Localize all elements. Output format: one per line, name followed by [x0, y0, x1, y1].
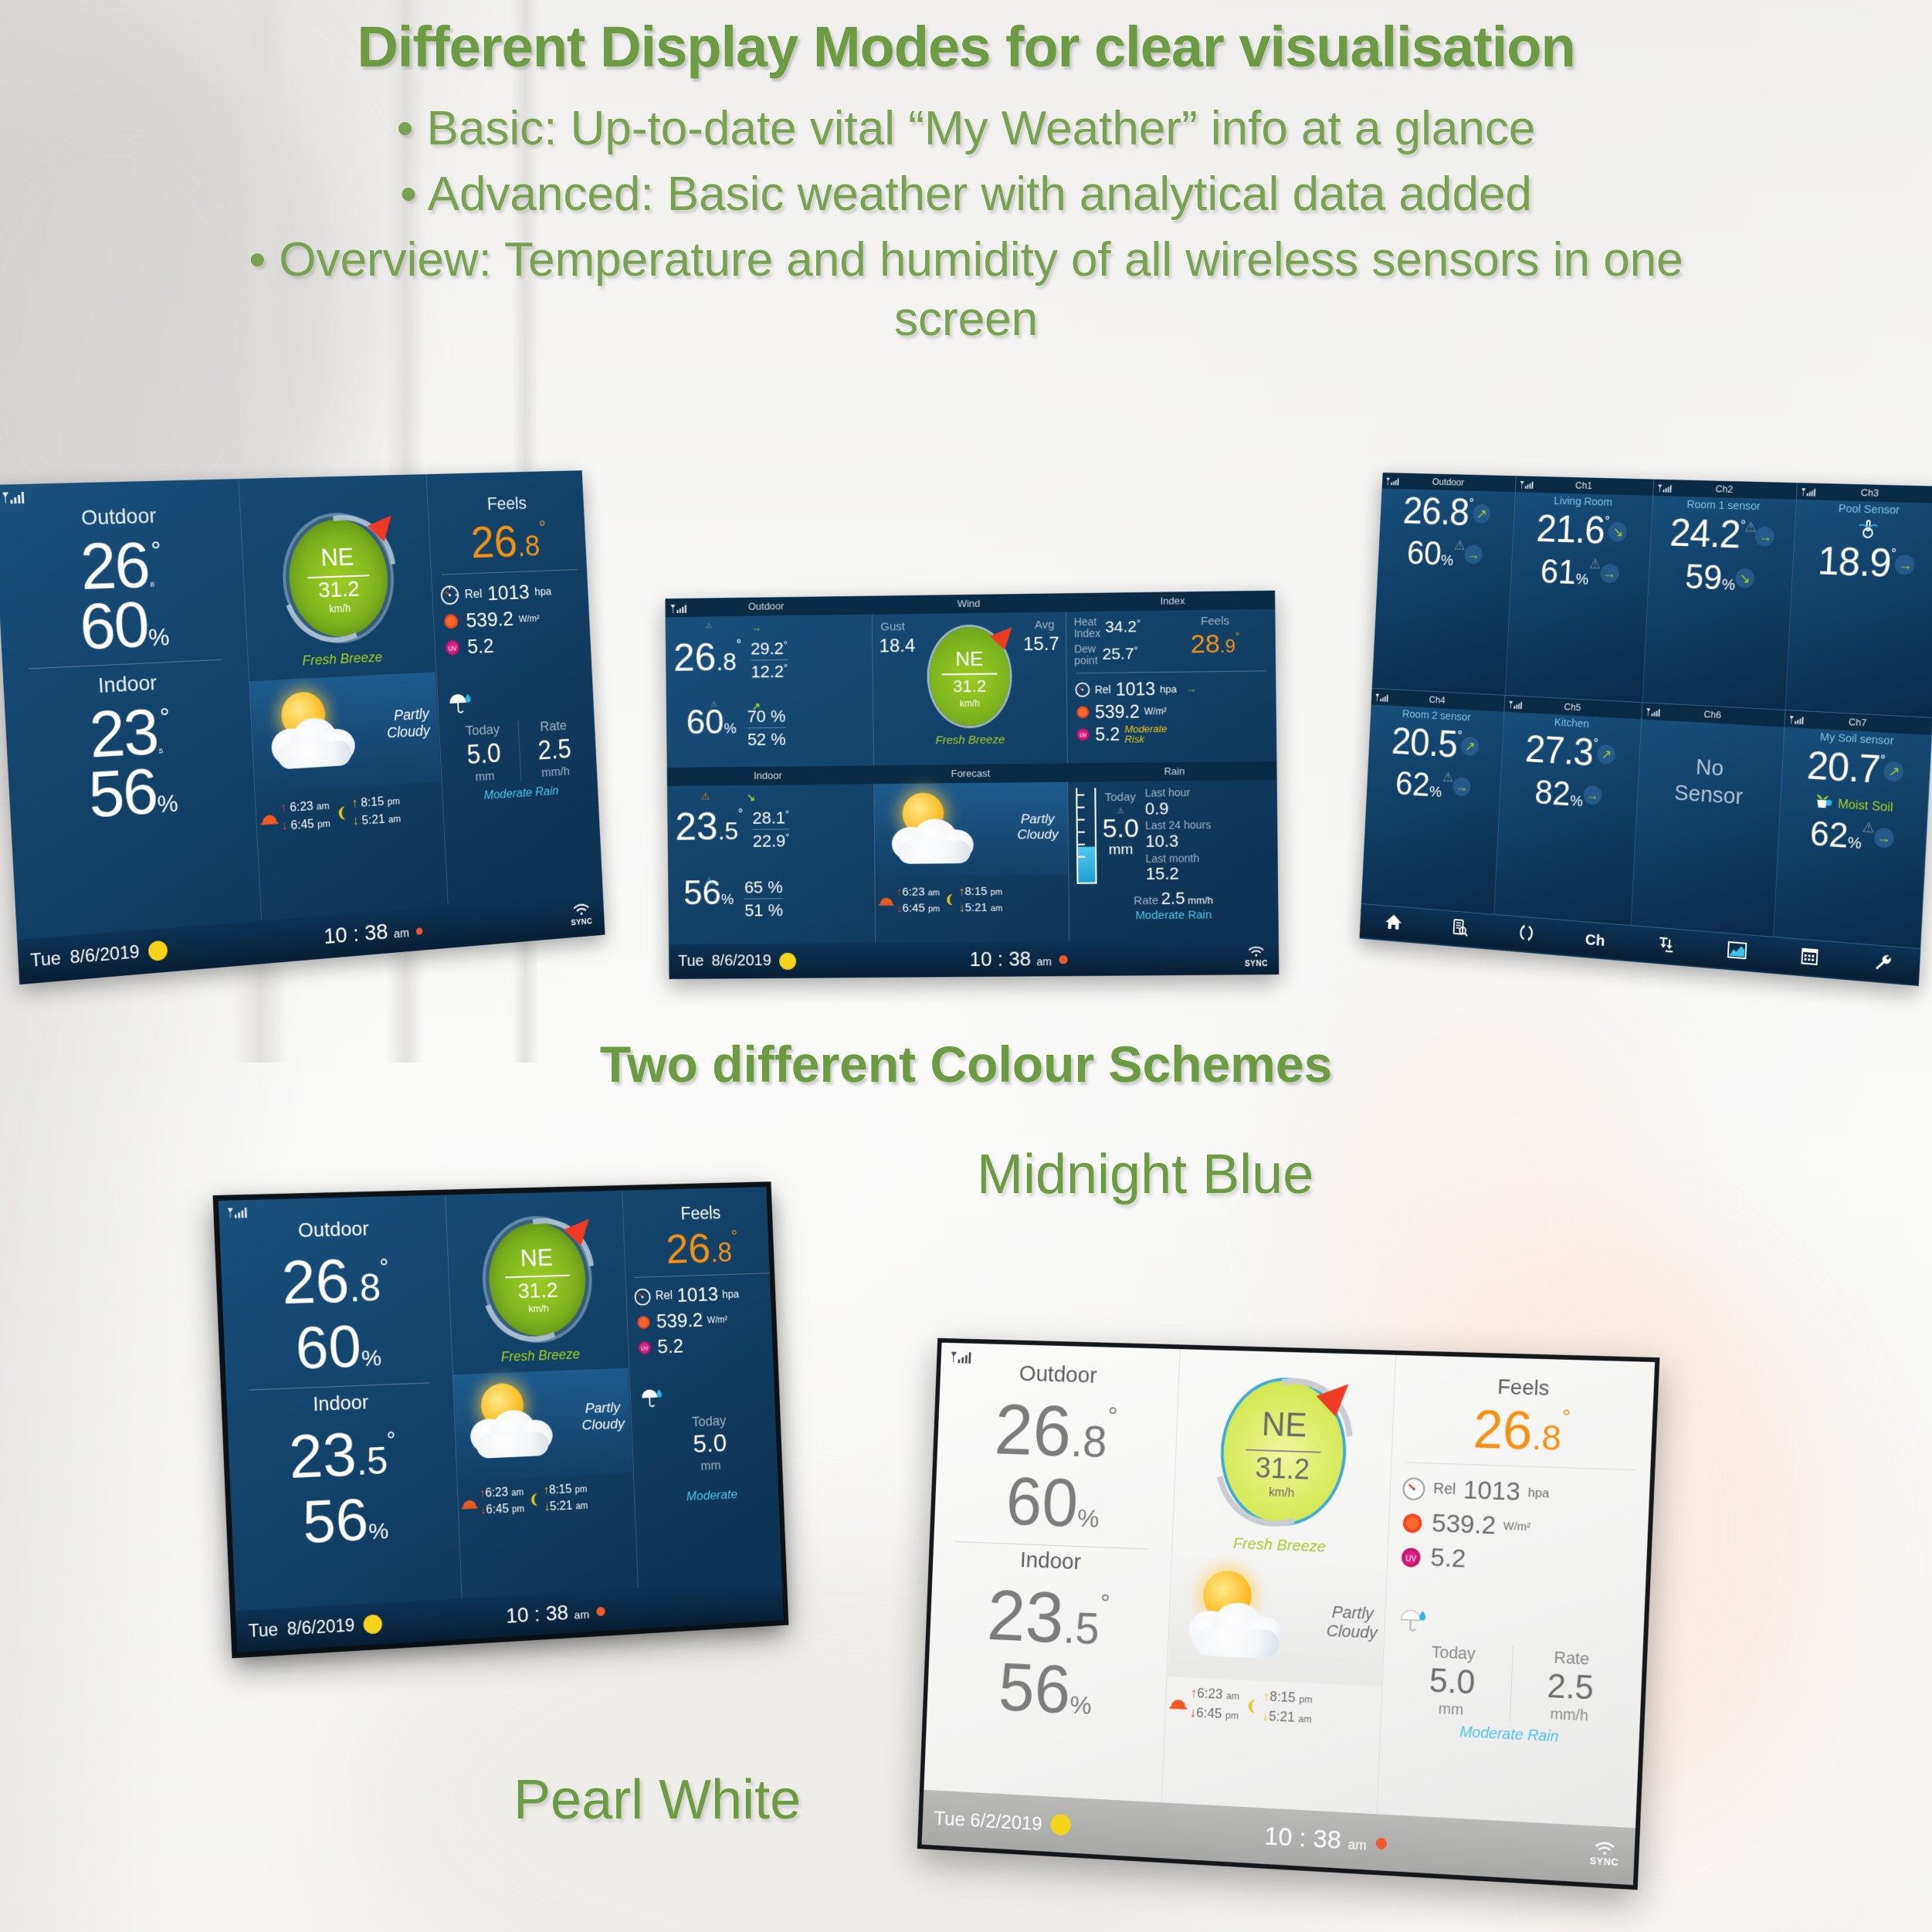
adv-outdoor-hum-unit: % — [724, 720, 737, 736]
indoor-hum-alarm-icon: ⚠ — [705, 875, 714, 887]
indoor-temp-dec: .5 — [158, 747, 162, 756]
wind-dial: NE 31.2 km/h — [286, 518, 390, 639]
hum-alarm-icon: ⚠ — [710, 700, 717, 709]
sensor-humidity: 62%⚠→ — [1778, 810, 1927, 861]
pw-pressure: 1013 — [1463, 1476, 1520, 1507]
overview-cell-ch1[interactable]: Ch1Living Room21.6°↘61%⚠→ — [1505, 476, 1654, 703]
overview-sensor-grid: Outdoor26.8°↗60%⚠→ Ch1Living Room21.6°↘6… — [1361, 473, 1932, 949]
sensor-temperature: 20.7°↗ — [1781, 741, 1930, 796]
pw-pressure-row: Rel 1013 hpa — [1402, 1473, 1639, 1511]
mn-sunrise: 6:23 — [485, 1486, 508, 1500]
temp-trend-icon: → — [751, 622, 761, 634]
sunrise-ampm: am — [317, 800, 330, 812]
sensor-humidity: 62%⚠→ — [1367, 761, 1501, 809]
adv-indoor-temp-dec: .5 — [717, 817, 738, 845]
mn-pressure-unit: hpa — [722, 1287, 739, 1300]
wind-speed: 31.2 — [930, 676, 1010, 697]
sensor-temperature: 21.6°↘ — [1513, 506, 1652, 554]
home-icon[interactable] — [1385, 913, 1403, 934]
forecast-text-1: Partly — [386, 706, 430, 725]
outdoor-hum-value: 60 — [78, 588, 150, 663]
advanced-outdoor-cell: ⚠ → 26.8° 29.2° 12.2° ⚠ ↗ 60% — [666, 615, 874, 768]
pw-moonset-ampm: am — [1298, 1713, 1312, 1725]
svg-text:UV: UV — [448, 645, 457, 652]
last-hour-value: 0.9 — [1145, 798, 1269, 819]
pw-wind-dir: NE — [1224, 1405, 1344, 1446]
moon-icon — [943, 893, 957, 907]
overview-cell-ch5[interactable]: Ch5Kitchen27.3°↗82%→ — [1494, 696, 1643, 926]
feels-dec: .8 — [517, 530, 541, 562]
wind-dial: NE 31.2 km/h — [929, 626, 1010, 726]
pw-moonrise-ampm: pm — [1299, 1693, 1313, 1706]
adv-indoor-hum-min: 51 % — [744, 900, 783, 920]
sunrise-time: 6:23 — [290, 798, 314, 814]
adv-outdoor-temp: 26 — [673, 636, 717, 679]
mn-rain-status: Moderate — [642, 1485, 781, 1507]
sunrise-icon — [260, 810, 278, 826]
pw-out-hum-unit: % — [1076, 1504, 1100, 1534]
overview-cell-ch2[interactable]: Ch2Room 1 sensor24.2°⚠→59%↘ — [1642, 480, 1797, 710]
bullet-advanced: • Advanced: Basic weather with analytica… — [0, 165, 1932, 225]
advanced-rain-cell: Today ⚠ 5.0 mm Last hour 0.9 Last 24 hou… — [1068, 780, 1279, 941]
avg-label: Avg — [1035, 619, 1055, 632]
pearl-right-column: Feels 26.8° Rel 1013 hpa 539.2 W/m² — [1378, 1355, 1654, 1835]
adv-sunset-ampm: pm — [928, 904, 940, 913]
adv-solar-unit: W/m² — [1144, 706, 1167, 717]
pw-solar-unit: W/m² — [1503, 1520, 1531, 1534]
channel-label: Ch2 — [1653, 480, 1796, 500]
adv-sync-label: SYNC — [1245, 960, 1268, 968]
pw-out-deg: ° — [1107, 1402, 1118, 1430]
max-min-icon[interactable] — [1656, 934, 1675, 957]
pw-out-temp: 26 — [993, 1389, 1073, 1471]
sunset-time: 6:45 — [290, 816, 314, 832]
trend-arrow-icon: → — [1755, 527, 1775, 547]
pw-weekday-date: Tue 6/2/2019 — [934, 1806, 1042, 1835]
trend-arrow-icon: → — [1464, 544, 1483, 564]
pw-forecast-2: Cloudy — [1326, 1621, 1378, 1642]
pw-wind-speed: 31.2 — [1222, 1452, 1343, 1488]
sunset-ampm: pm — [317, 818, 330, 830]
svg-text:UV: UV — [641, 1344, 649, 1351]
wind-speed: 31.2 — [289, 575, 388, 605]
status-ampm: am — [394, 927, 410, 941]
gust-label: Gust — [880, 620, 905, 633]
wind-dial: NE 31.2 km/h — [1218, 1376, 1349, 1528]
pw-feels-label: Feels — [1405, 1355, 1643, 1403]
adv-moonset-time: 5:21 — [965, 901, 988, 914]
adv-forecast-text-1: Partly — [1017, 812, 1058, 827]
advanced-wind-header: Wind — [867, 593, 1070, 614]
uv-risk-2: Risk — [1124, 734, 1144, 745]
mn-feels-deg: ° — [731, 1227, 738, 1246]
adv-pressure-value: 1013 — [1116, 679, 1156, 700]
status-weekday: Tue — [30, 948, 62, 972]
advanced-row1-body: ⚠ → 26.8° 29.2° 12.2° ⚠ ↗ 60% — [666, 609, 1277, 768]
wrench-settings-icon[interactable] — [1873, 952, 1893, 975]
mn-ampm: am — [574, 1608, 589, 1622]
adv-pressure-prefix: Rel — [1095, 683, 1111, 696]
display-advanced-mode: Outdoor Wind Index ⚠ → 26.8° 29.2° 12.2° — [666, 595, 1276, 977]
forecast-text-2: Cloudy — [387, 723, 431, 742]
adv-rain-today-label: Today — [1102, 791, 1139, 805]
signal-bars-icon — [1657, 483, 1673, 500]
pw-in-dec: .5 — [1063, 1602, 1100, 1654]
mn-wind-dir: NE — [488, 1242, 585, 1273]
adv-rate-unit: mm/h — [1188, 894, 1213, 906]
pressure-row: Rel 1013 hpa — [439, 578, 581, 607]
feels-temperature: 26.8° — [436, 514, 580, 570]
advanced-index-header: Index — [1070, 591, 1275, 612]
no-sensor-text: NoSensor — [1638, 751, 1782, 813]
adv-moonrise-time: 8:15 — [964, 885, 987, 898]
trend-arrow-icon: → — [1895, 554, 1916, 575]
indoor-temp-trend-icon: ↘ — [747, 791, 755, 804]
sunrise-icon — [1170, 1694, 1188, 1710]
pearl-screen: Outdoor 26.8° 60% Indoor 23.5° 56% N — [922, 1343, 1656, 1885]
mn-date: 8/6/2019 — [286, 1615, 355, 1639]
overview-screen: Outdoor26.8°↗60%⚠→ Ch1Living Room21.6°↘6… — [1360, 473, 1932, 986]
sun-behind-cloud-icon — [1183, 1566, 1297, 1673]
bullet-overview: • Overview: Temperature and humidity of … — [232, 231, 1700, 350]
last-month-value: 15.2 — [1146, 864, 1270, 884]
mn-out-hum: 60 — [294, 1312, 362, 1381]
wind-description: Fresh Breeze — [248, 647, 435, 673]
adv-forecast-text-2: Cloudy — [1017, 826, 1058, 842]
mn-moonrise: 8:15 — [549, 1483, 572, 1497]
moonrise-ampm: pm — [387, 795, 400, 807]
adv-uv-row: UV 5.2 Moderate Risk — [1075, 722, 1269, 745]
index-feels-label: Feels — [1163, 614, 1268, 629]
outdoor-hum-unit: % — [147, 623, 170, 651]
mn-in-dec: .5 — [355, 1439, 388, 1483]
adv-solar-row: 539.2 W/m² — [1075, 700, 1269, 723]
mn-sunset: 6:45 — [486, 1503, 509, 1517]
moon-icon — [1243, 1697, 1260, 1714]
last-24-label: Last 24 hours — [1145, 819, 1269, 832]
channel-label: Ch3 — [1796, 483, 1932, 503]
moon-icon — [334, 805, 350, 822]
dew-point-value: 25.7 — [1102, 645, 1134, 663]
pw-forecast-1: Partly — [1327, 1602, 1378, 1624]
trend-arrow-icon: → — [1583, 785, 1602, 805]
calendar-icon[interactable] — [1800, 947, 1818, 969]
advanced-screen: Outdoor Wind Index ⚠ → 26.8° 29.2° 12.2° — [665, 591, 1279, 979]
adv-sync-indicator: SYNC — [1245, 946, 1279, 968]
overview-cell-ch6[interactable]: Ch6NoSensor — [1631, 703, 1785, 937]
advanced-outdoor-header: Outdoor — [748, 600, 785, 612]
adv-pressure-row: Rel 1013 hpa → — [1074, 677, 1268, 700]
advanced-rain-header: Rain — [1073, 761, 1277, 782]
sensor-humidity: 59%↘ — [1648, 554, 1792, 600]
mn-forecast-panel: Partly Cloudy — [453, 1368, 632, 1480]
forecast-panel: Partly Cloudy — [249, 672, 441, 793]
pw-moonset: 5:21 — [1269, 1709, 1295, 1725]
sensor-humidity: 61%⚠→ — [1510, 550, 1649, 595]
adv-indoor-deg: ° — [738, 807, 744, 821]
wind-direction: NE — [929, 646, 1009, 671]
indoor-temp-alarm-icon: ⚠ — [701, 791, 710, 803]
signal-bars-icon — [1507, 699, 1524, 716]
channel-label: Ch1 — [1515, 476, 1653, 496]
pw-sunset: 6:45 — [1196, 1705, 1222, 1721]
adv-indoor-temp: 23 — [675, 805, 718, 848]
adv-rain-today-value: 5.0 — [1102, 815, 1139, 842]
pw-sync-indicator: SYNC — [1589, 1841, 1635, 1870]
mn-solar-row: 539.2 W/m² — [635, 1306, 775, 1334]
avg-value: 15.7 — [1023, 634, 1059, 656]
adv-moonrise-ampm: pm — [991, 888, 1002, 897]
adv-rate-value: 2.5 — [1161, 888, 1185, 907]
mn-wind-desc: Fresh Breeze — [452, 1344, 629, 1367]
basic-left-column: Outdoor 26.8° 60% Indoor 23.5° 56% — [0, 479, 260, 938]
barometer-icon — [1402, 1476, 1426, 1501]
outdoor-label: Outdoor — [0, 479, 240, 533]
mn-in-temp: 23 — [287, 1420, 358, 1491]
solar-radiation-icon — [635, 1313, 652, 1331]
pressure-unit: hpa — [534, 585, 551, 598]
trend-arrow-icon: ↘ — [1735, 568, 1755, 588]
alarm-bell-icon: ● — [415, 920, 425, 940]
sensor-humidity: 60%⚠→ — [1378, 532, 1512, 576]
full-moon-icon — [1050, 1814, 1071, 1835]
mn-in-hum-unit: % — [368, 1518, 389, 1544]
trend-arrow-icon: → — [1452, 777, 1471, 797]
pw-time: 10 : 38 — [1264, 1822, 1342, 1855]
uv-index-icon: UV — [442, 637, 463, 659]
solar-value: 539.2 — [466, 607, 514, 632]
pw-sunset-ampm: pm — [1225, 1710, 1239, 1721]
trend-arrow-icon: ↗ — [1460, 737, 1479, 757]
alarm-bell-icon: ● — [1373, 1827, 1389, 1856]
indoor-hum-value: 56 — [86, 754, 158, 832]
pw-ampm: am — [1347, 1836, 1367, 1852]
barometer-icon — [633, 1287, 651, 1306]
pw-uv: 5.2 — [1430, 1543, 1466, 1574]
soil-status-text: Moist Soil — [1838, 796, 1894, 814]
rain-readouts: Today 5.0 mm Rate 2.5 mm/h — [447, 717, 591, 786]
sync-indicator: SYNC — [570, 902, 605, 929]
mn-feels-dec: .8 — [710, 1237, 732, 1268]
pw-sunrise-ampm: am — [1226, 1690, 1240, 1701]
sunrise-icon — [879, 894, 894, 907]
pw-in-deg: ° — [1100, 1589, 1110, 1618]
mn-solar: 539.2 — [656, 1308, 703, 1333]
outdoor-humidity: 60% — [0, 590, 246, 663]
moonrise-time: 8:15 — [361, 794, 385, 809]
trend-arrow-icon: ↗ — [1883, 761, 1904, 781]
pw-outdoor-label: Outdoor — [940, 1343, 1178, 1391]
heat-index-value: 34.2 — [1105, 618, 1137, 636]
status-date: 8/6/2019 — [69, 941, 140, 968]
svg-text:UV: UV — [1405, 1554, 1417, 1564]
chart-icon[interactable] — [1727, 941, 1747, 962]
trend-arrow-icon: → — [1873, 827, 1894, 849]
basic-screen: Outdoor 26.8° 60% Indoor 23.5° 56% — [0, 470, 605, 985]
adv-outdoor-temp-max: 29.2 — [751, 639, 784, 658]
signal-bars-icon — [1646, 706, 1662, 723]
pw-forecast-panel: Partly Cloudy — [1168, 1557, 1386, 1686]
alarm-warning-icon: ⚠ — [1442, 770, 1454, 786]
pw-wind-desc: Fresh Breeze — [1173, 1533, 1387, 1559]
gust-value: 18.4 — [879, 636, 915, 658]
adv-rain-today-unit: mm — [1103, 842, 1140, 859]
adv-indoor-temp-max: 28.1 — [752, 808, 785, 827]
wind-description: Fresh Breeze — [874, 733, 1066, 748]
sensor-temperature: 26.8°↗ — [1380, 489, 1515, 537]
advanced-wind-cell: Gust 18.4 Avg 15.7 NE 31.2 km/h Fresh Br… — [873, 612, 1066, 765]
solar-row: 539.2 W/m² — [441, 605, 583, 634]
full-moon-icon — [779, 952, 796, 969]
mn-outdoor-label: Outdoor — [219, 1195, 446, 1245]
headline-block: Different Display Modes for clear visual… — [0, 0, 1932, 350]
page-title: Different Display Modes for clear visual… — [0, 0, 1932, 80]
dew-point-deg: ° — [1134, 645, 1137, 656]
pw-sync-label: SYNC — [1589, 1855, 1618, 1868]
index-feels-deg: ° — [1235, 630, 1240, 643]
pearl-left-column: Outdoor 26.8° 60% Indoor 23.5° 56% — [924, 1343, 1178, 1810]
overview-cell-ch3[interactable]: Ch3Pool Sensor 18.9°→ — [1785, 483, 1932, 718]
index-feels-value: 28 — [1191, 629, 1220, 659]
last-hour-label: Last hour — [1144, 786, 1269, 799]
mn-sunrise-ampm: am — [511, 1486, 524, 1497]
outdoor-temp-dec: .8 — [150, 581, 154, 589]
uv-index-icon: UV — [1075, 727, 1090, 743]
adv-sunrise-time: 6:23 — [902, 886, 924, 899]
uv-value: 5.2 — [467, 634, 495, 659]
display-midnight-blue: Outdoor 26.8° 60% Indoor 23.5° 56% — [222, 1195, 809, 1659]
rain-status: Moderate Rain — [450, 781, 591, 805]
label-pearl-white: Pearl White — [514, 1768, 801, 1832]
display-overview-mode: Outdoor26.8°↗60%⚠→ Ch1Living Room21.6°↘6… — [1322, 486, 1932, 988]
pw-in-temp: 23 — [986, 1575, 1066, 1658]
rain-today-value: 5.0 — [448, 737, 520, 771]
adv-status-ampm: am — [1036, 955, 1052, 968]
document-search-icon[interactable] — [1452, 918, 1469, 940]
pw-feels-deg: ° — [1561, 1405, 1571, 1429]
wifi-icon — [572, 903, 590, 916]
plant-pot-icon — [1813, 792, 1832, 814]
advanced-forecast-header: Forecast — [869, 764, 1072, 785]
sun-behind-cloud-icon — [889, 789, 982, 873]
label-midnight-blue: Midnight Blue — [977, 1143, 1313, 1206]
adv-rate-label: Rate — [1134, 894, 1158, 907]
mn-out-dec: .8 — [348, 1266, 381, 1310]
trend-arrow-icon: ↗ — [1597, 744, 1616, 764]
pearl-middle-column: NE 31.2 km/h Fresh Breeze Partly Cloudy — [1162, 1349, 1395, 1822]
trend-arrow-icon: ↘ — [1608, 522, 1627, 542]
signal-bars-icon — [1385, 476, 1401, 492]
uv-index-icon: UV — [1398, 1544, 1423, 1570]
adv-indoor-hum: 56 — [683, 874, 721, 912]
adv-outdoor-deg: ° — [736, 638, 741, 652]
adv-status-date: 8/6/2019 — [711, 952, 771, 971]
barometer-icon — [1074, 682, 1090, 697]
indoor-hum-trend-icon: → — [747, 876, 758, 888]
wind-speed-unit: km/h — [930, 697, 1010, 709]
indoor-humidity: 56% — [8, 754, 255, 832]
advanced-indoor-header: Indoor — [667, 765, 869, 786]
rain-gauge-icon — [1076, 788, 1096, 883]
adv-status-time: 10 : 38 — [970, 947, 1032, 971]
midnight-left-column: Outdoor 26.8° 60% Indoor 23.5° 56% — [219, 1195, 461, 1618]
mn-feels-label: Feels — [629, 1187, 770, 1225]
wind-dial: NE 31.2 km/h — [486, 1222, 588, 1337]
pw-pressure-unit: hpa — [1527, 1485, 1550, 1501]
alarm-warning-icon: ⚠ — [1454, 537, 1466, 553]
mn-pressure-prefix: Rel — [655, 1289, 673, 1303]
wifi-icon — [1248, 946, 1265, 957]
refresh-icon[interactable] — [1518, 924, 1534, 945]
mn-indoor-label: Indoor — [226, 1387, 452, 1420]
alarm-warning-icon: ⚠ — [1862, 819, 1875, 836]
signal-bars-icon — [1788, 713, 1805, 731]
advanced-forecast-cell: Partly Cloudy ↑6:23 am ↓6:45 pm — [875, 782, 1069, 943]
adv-indoor-temp-min: 22.9 — [753, 832, 786, 851]
signal-bars-icon — [1374, 692, 1390, 709]
section-subtitle: Two different Colour Schemes — [0, 1035, 1932, 1093]
full-moon-icon — [363, 1614, 382, 1634]
signal-bars-icon — [1519, 479, 1535, 495]
adv-outdoor-hum-min: 52 % — [747, 730, 786, 750]
last-24-value: 10.3 — [1145, 831, 1269, 851]
pw-out-dec: .8 — [1069, 1415, 1107, 1466]
display-basic-mode: Outdoor 26.8° 60% Indoor 23.5° 56% — [6, 485, 647, 987]
overview-cell-ch7[interactable]: Ch7My Soil sensor20.7°↗ Moist Soil62%⚠→ — [1773, 710, 1932, 949]
pw-rain-readouts: Today 5.0 mm Rate 2.5 mm/h — [1392, 1641, 1631, 1727]
solar-radiation-icon — [441, 611, 461, 632]
sun-behind-cloud-icon — [264, 685, 364, 779]
pw-feels-dec: .8 — [1531, 1417, 1562, 1458]
wifi-icon — [1594, 1841, 1615, 1855]
midnight-middle-column: NE 31.2 km/h Fresh Breeze Partly Cloudy — [446, 1191, 637, 1605]
overview-cell-outdoor[interactable]: Outdoor26.8°↗60%⚠→ — [1372, 473, 1517, 696]
display-pearl-white: Outdoor 26.8° 60% Indoor 23.5° 56% N — [892, 1357, 1649, 1890]
adv-pressure-unit: hpa — [1160, 683, 1177, 695]
status-time: 10 : 38 — [323, 920, 388, 949]
pw-rain-today: 5.0 — [1393, 1660, 1511, 1703]
adv-indoor-hum-unit: % — [721, 890, 734, 907]
pw-moonrise: 8:15 — [1269, 1689, 1296, 1705]
last-month-label: Last month — [1145, 852, 1269, 865]
pw-solar-row: 539.2 W/m² — [1400, 1507, 1637, 1546]
channel-icon[interactable]: Ch — [1585, 931, 1605, 948]
svg-text:UV: UV — [1080, 734, 1087, 739]
mn-moonset-ampm: am — [575, 1500, 588, 1511]
pw-feels-val: 26 — [1473, 1399, 1534, 1461]
overview-cell-ch4[interactable]: Ch4Room 2 sensor20.5°↗62%⚠→ — [1361, 689, 1505, 915]
mn-solar-unit: W/m² — [707, 1314, 728, 1325]
pw-in-hum: 56 — [998, 1650, 1073, 1728]
mn-weekday: Tue — [248, 1619, 278, 1642]
umbrella-rain-icon — [638, 1379, 778, 1415]
mn-out-hum-unit: % — [361, 1345, 381, 1371]
mn-forecast-2: Cloudy — [581, 1416, 625, 1435]
solar-unit: W/m² — [518, 612, 540, 624]
indoor-temp-degree: ° — [159, 703, 171, 732]
sensor-humidity: 82%→ — [1500, 770, 1639, 819]
heat-index-deg: ° — [1137, 618, 1141, 629]
mn-feels-val: 26 — [665, 1224, 711, 1272]
mn-pressure-row: Rel 1013 hpa — [633, 1281, 774, 1309]
feels-degree: ° — [538, 516, 546, 537]
adv-uv-value: 5.2 — [1095, 724, 1120, 745]
trend-arrow-icon: ↗ — [1473, 504, 1491, 524]
basic-right-column: Feels 26.8° Rel 1013 hpa — [427, 470, 602, 904]
mn-moonset: 5:21 — [550, 1500, 573, 1513]
rain-rate-value: 2.5 — [519, 733, 590, 768]
mn-out-temp: 26 — [280, 1246, 351, 1317]
